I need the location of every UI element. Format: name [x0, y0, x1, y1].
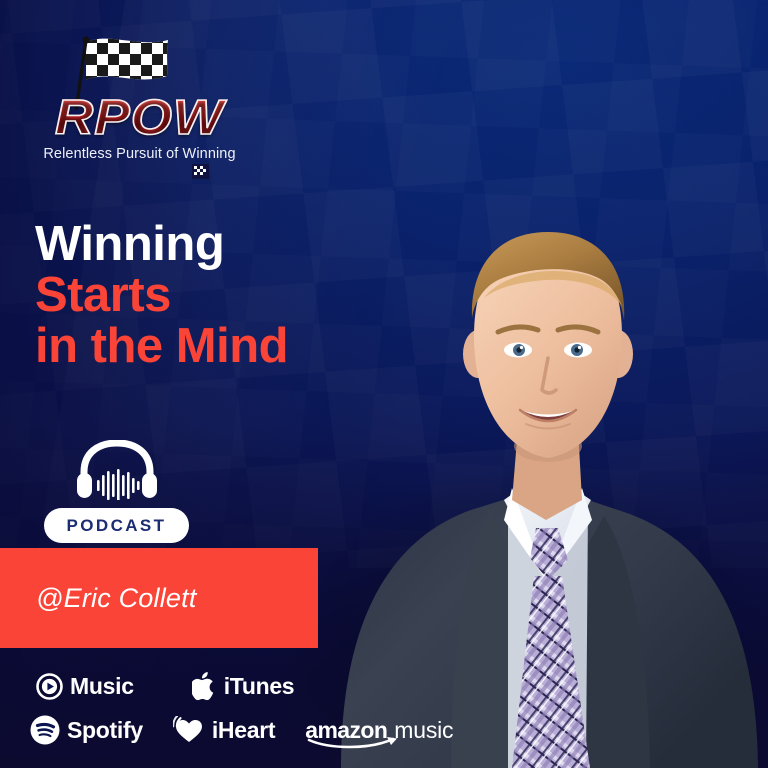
platform-itunes[interactable]: iTunes — [192, 672, 295, 701]
spotify-icon — [30, 715, 60, 745]
platform-google-play-music[interactable]: Music — [36, 673, 134, 700]
headline-line-3: in the Mind — [35, 321, 288, 372]
amazon-icon — [307, 737, 403, 749]
host-handle-banner: @Eric Collett — [0, 548, 318, 648]
platform-badges: Music iTunes Spotify — [30, 664, 410, 752]
logo-tagline: Relentless Pursuit of Winning — [32, 146, 247, 162]
platform-spotify[interactable]: Spotify — [30, 715, 143, 745]
podcast-label-pill: PODCAST — [44, 508, 189, 543]
logo-wordmark: RPOW — [23, 94, 255, 143]
host-handle: @Eric Collett — [36, 583, 197, 614]
google-play-music-icon — [36, 673, 63, 700]
iheart-icon — [173, 716, 205, 744]
checkered-flag-mark-icon — [192, 164, 209, 179]
page-title: Winning Starts in the Mind — [35, 219, 288, 372]
platform-amazon-music[interactable]: amazon music — [305, 717, 453, 744]
podcast-cover-art: RPOW Relentless Pursuit of Winning Winni… — [0, 0, 768, 768]
platform-label: Music — [70, 673, 134, 700]
headline-line-2: Starts — [35, 270, 288, 321]
platform-label: Spotify — [67, 717, 143, 744]
platform-iheart[interactable]: iHeart — [173, 716, 275, 744]
podcast-badge-group: PODCAST — [44, 440, 189, 543]
platform-row-1: Music iTunes — [30, 664, 410, 708]
platform-label: iTunes — [224, 673, 295, 700]
platform-row-2: Spotify iHeart amazon music — [30, 708, 410, 752]
headphones-waveform-icon — [74, 440, 160, 500]
platform-label: iHeart — [212, 717, 275, 744]
apple-icon — [192, 672, 217, 701]
headline-line-1: Winning — [35, 219, 288, 270]
